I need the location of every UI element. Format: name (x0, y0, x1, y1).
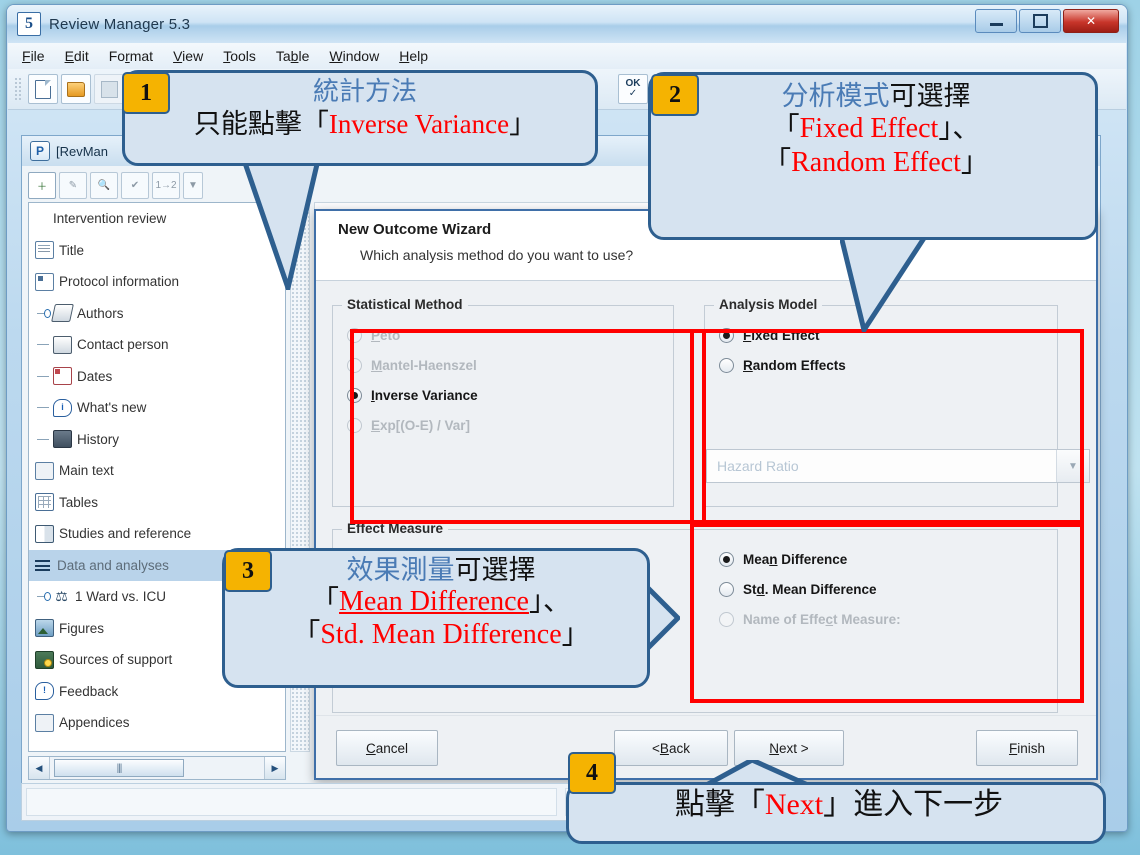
callout-1-line2-pre: 只能點擊「 (194, 109, 329, 139)
callout-2-tail (840, 232, 930, 332)
add-icon[interactable]: ＋ (28, 172, 56, 199)
tree-item-label: Studies and reference (59, 526, 191, 541)
tree-item-appendices[interactable]: Appendices (29, 707, 285, 739)
tree-item-label: What's new (77, 400, 146, 415)
callout-3-line2-red: Mean Difference (339, 586, 529, 617)
menu-item-edit[interactable]: Edit (65, 48, 89, 64)
effect-measure-name-combo[interactable]: Hazard Ratio ▼ (706, 449, 1090, 483)
statistical-method-options: PetoMantel-HaenszelInverse VarianceExp[(… (333, 306, 673, 440)
menu-item-table[interactable]: Table (276, 48, 310, 64)
main-text-icon (35, 462, 54, 480)
callout-3-line1-black: 可選擇 (455, 555, 536, 585)
callout-4-text: 點擊「Next」進入下一步 (579, 788, 1099, 823)
callout-3-badge: 3 (224, 550, 272, 592)
effect-measure-name-value: Hazard Ratio (707, 458, 1056, 474)
tree-branch-line (37, 369, 51, 383)
tree-item-label: Tables (59, 495, 98, 510)
dialog-subheading: Which analysis method do you want to use… (360, 247, 1096, 263)
callout-1-badge: 1 (122, 72, 170, 114)
tree-item-what-s-new[interactable]: iWhat's new (29, 392, 285, 424)
radio-indicator[interactable] (719, 328, 734, 343)
tree-item-studies-and-reference[interactable]: Studies and reference (29, 518, 285, 550)
tree-item-label: Data and analyses (57, 558, 169, 573)
tree-item-dates[interactable]: Dates (29, 361, 285, 393)
figures-icon (35, 619, 54, 637)
callout-3-line2-pre: 「 (311, 586, 339, 617)
statistical-method-title: Statistical Method (342, 297, 468, 312)
callout-3-line3-pre: 「 (292, 619, 320, 650)
radio-indicator[interactable] (719, 358, 734, 373)
statistical-method-radio-mantel-haenszel: Mantel-Haenszel (333, 350, 673, 380)
callout-1-line2-red: Inverse Variance (329, 109, 509, 139)
radio-indicator (347, 418, 362, 433)
analysis-model-title: Analysis Model (714, 297, 822, 312)
tree-expander-icon[interactable] (37, 306, 51, 320)
radio-indicator[interactable] (719, 552, 734, 567)
scrollbar-thumb[interactable]: ||| (54, 759, 184, 777)
menu-item-format[interactable]: Format (109, 48, 153, 64)
callout-2-line1-blue: 分析模式 (782, 81, 890, 111)
statistical-method-label: Peto (371, 328, 400, 343)
callout-3-line3-red: Std. Mean Difference (320, 619, 561, 650)
callout-4-badge: 4 (568, 752, 616, 794)
save-icon[interactable] (94, 74, 124, 104)
callout-4-red: Next (765, 788, 823, 821)
chevron-down-icon[interactable]: ▼ (1056, 450, 1089, 482)
menu-item-file[interactable]: File (22, 48, 45, 64)
callout-2-analysis-model: 分析模式可選擇 「Fixed Effect」、 「Random Effect」 (648, 72, 1098, 240)
callout-2-line3-pre: 「 (763, 147, 791, 178)
callout-4-pre: 點擊「 (675, 788, 765, 821)
tree-item-label: Dates (77, 369, 112, 384)
authors-icon (51, 304, 74, 322)
statistical-method-label: Mantel-Haenszel (371, 358, 477, 373)
window-title: Review Manager 5.3 (49, 16, 190, 33)
callout-3-text: 效果測量可選擇 「Mean Difference」、 「Std. Mean Di… (233, 555, 649, 651)
app-logo-icon: 5 (17, 12, 41, 36)
history-icon (53, 430, 72, 448)
effect-measure-radio-name-of-effect-measure: Name of Effect Measure: (705, 604, 1057, 634)
radio-indicator[interactable] (347, 388, 362, 403)
cancel-button[interactable]: Cancel (336, 730, 438, 766)
window-controls: ✕ (975, 9, 1119, 33)
appendices-icon (35, 714, 54, 732)
status-cell-left (26, 788, 557, 816)
contact-icon (53, 336, 72, 354)
callout-4-post: 」進入下一步 (823, 788, 1003, 821)
tree-item-label: Protocol information (59, 274, 179, 289)
tree-horizontal-scrollbar[interactable]: ◀ ||| ▶ (28, 756, 286, 780)
callout-2-line3-post: 」 (961, 147, 989, 178)
check-icon[interactable]: ✔ (121, 172, 149, 199)
callout-2-text: 分析模式可選擇 「Fixed Effect」、 「Random Effect」 (661, 81, 1091, 179)
whats-new-icon: i (53, 399, 72, 417)
data-analyses-icon (35, 557, 52, 573)
statistical-method-group: Statistical Method PetoMantel-HaenszelIn… (332, 305, 674, 507)
menu-item-view[interactable]: View (173, 48, 203, 64)
new-document-icon[interactable] (28, 74, 58, 104)
menu-item-tools[interactable]: Tools (223, 48, 256, 64)
callout-2-line2-pre: 「 (772, 113, 800, 144)
tree-branch-line (37, 432, 51, 446)
callout-2-line3-red: Random Effect (791, 147, 961, 178)
tree-branch-line (37, 338, 51, 352)
callout-1-line2-post: 」 (509, 109, 536, 139)
statistical-method-radio-peto: Peto (333, 320, 673, 350)
dates-icon (53, 367, 72, 385)
callout-3-line2-post: 」、 (529, 586, 571, 617)
minimize-button[interactable] (975, 9, 1017, 33)
revman-doc-icon: P (30, 141, 50, 161)
effect-measure-label: Std. Mean Difference (743, 582, 877, 597)
tree-item-label: Sources of support (59, 652, 172, 667)
tree-item-label: 1 Ward vs. ICU (75, 589, 166, 604)
statistical-method-label: Exp[(O-E) / Var] (371, 418, 470, 433)
radio-indicator (719, 612, 734, 627)
tree-item-history[interactable]: History (29, 424, 285, 456)
tree-item-label: Figures (59, 621, 104, 636)
new-outcome-wizard-dialog: New Outcome Wizard Which analysis method… (314, 209, 1098, 780)
maximize-button[interactable] (1019, 9, 1061, 33)
callout-3-line3-post: 」 (562, 619, 590, 650)
callout-3-effect-measure: 效果測量可選擇 「Mean Difference」、 「Std. Mean Di… (222, 548, 650, 688)
edit-icon[interactable]: ✎ (59, 172, 87, 199)
title-bar[interactable]: 5 Review Manager 5.3 ✕ (7, 5, 1127, 43)
tree-item-main-text[interactable]: Main text (29, 455, 285, 487)
tree-item-label: History (77, 432, 119, 447)
tree-item-label: Title (59, 243, 84, 258)
menu-bar: FileEditFormatViewToolsTableWindowHelp (8, 43, 1126, 70)
callout-2-badge: 2 (651, 74, 699, 116)
toolbar-grip[interactable] (14, 77, 22, 101)
merge-1-2-icon[interactable]: 1→2 (152, 172, 180, 199)
statistical-method-label: Inverse Variance (371, 388, 478, 403)
caret-down-icon[interactable]: ▼ (183, 172, 203, 199)
tables-icon (35, 493, 54, 511)
tree-item-tables[interactable]: Tables (29, 487, 285, 519)
menu-item-window[interactable]: Window (329, 48, 379, 64)
callout-2-line1-black: 可選擇 (890, 81, 971, 111)
menu-item-help[interactable]: Help (399, 48, 428, 64)
sources-icon (35, 651, 54, 669)
finish-button[interactable]: Finish (976, 730, 1078, 766)
tree-item-label: Appendices (59, 715, 130, 730)
callout-1-text: 統計方法 只能點擊「Inverse Variance」 (133, 77, 597, 140)
open-folder-icon[interactable] (61, 74, 91, 104)
close-button[interactable]: ✕ (1063, 9, 1119, 33)
effect-measure-title: Effect Measure (342, 521, 448, 536)
callout-2-line2-post: 」、 (938, 113, 980, 144)
effect-measure-radio-std-mean-difference[interactable]: Std. Mean Difference (705, 574, 1057, 604)
callout-3-line1-blue: 效果測量 (347, 555, 455, 585)
feedback-icon: ! (35, 682, 54, 700)
analysis-model-label: Random Effects (743, 358, 846, 373)
document-body: ＋ ✎ 🔍 ✔ 1→2 ▼ Intervention review TitleP… (22, 166, 1100, 786)
statistical-method-radio-exp-o-e-var: Exp[(O-E) / Var] (333, 410, 673, 440)
statistical-method-radio-inverse-variance[interactable]: Inverse Variance (333, 380, 673, 410)
effect-measure-radio-mean-difference[interactable]: Mean Difference (705, 544, 1057, 574)
callout-1-statistical-method: 統計方法 只能點擊「Inverse Variance」 (122, 70, 598, 166)
radio-indicator (347, 358, 362, 373)
tree-item-contact-person[interactable]: Contact person (29, 329, 285, 361)
comparison-scale-icon: ⚖ (53, 589, 70, 605)
tree-branch-line (37, 401, 51, 415)
callout-2-line2-red: Fixed Effect (800, 113, 939, 144)
document-title-label: [RevMan (56, 144, 108, 159)
tree-item-authors[interactable]: Authors (29, 298, 285, 330)
tree-item-label: Authors (77, 306, 124, 321)
scroll-left-icon[interactable]: ◀ (29, 757, 50, 779)
callout-4-next-step: 點擊「Next」進入下一步 (566, 782, 1106, 844)
analysis-model-radio-random-effects[interactable]: Random Effects (705, 350, 1057, 380)
tree-expander-icon[interactable] (37, 590, 51, 604)
radio-indicator (347, 328, 362, 343)
callout-1-line1: 統計方法 (313, 77, 417, 106)
tree-item-label: Contact person (77, 337, 169, 352)
effect-measure-label: Mean Difference (743, 552, 847, 567)
radio-indicator[interactable] (719, 582, 734, 597)
studies-icon (35, 525, 54, 543)
scroll-right-icon[interactable]: ▶ (264, 757, 285, 779)
tree-item-label: Feedback (59, 684, 118, 699)
callout-1-tail (240, 160, 320, 290)
document-icon (35, 241, 54, 259)
tree-item-label: Main text (59, 463, 114, 478)
inspect-icon[interactable]: 🔍 (90, 172, 118, 199)
analysis-model-label: Fixed Effect (743, 328, 820, 343)
validate-ok-icon[interactable]: OK✓ (618, 74, 648, 104)
protocol-icon (35, 273, 54, 291)
effect-measure-label: Name of Effect Measure: (743, 612, 901, 627)
